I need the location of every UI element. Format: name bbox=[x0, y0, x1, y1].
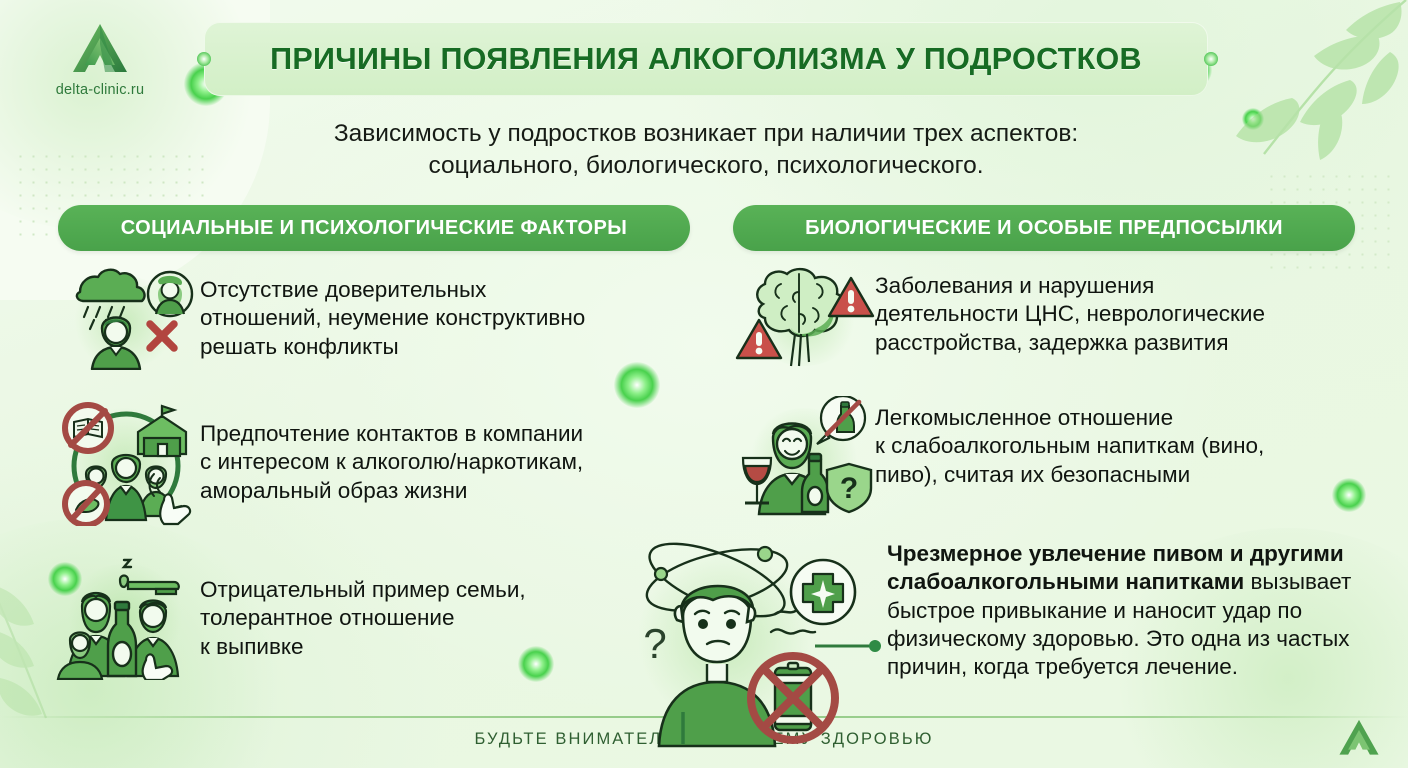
item-line-2: с интересом к алкоголю/наркотикам, bbox=[200, 448, 583, 476]
column-biological-factors: Заболевания и нарушения деятельности ЦНС… bbox=[733, 262, 1388, 748]
item-line-1: Заболевания и нарушения bbox=[875, 272, 1265, 300]
item-line-1: Отсутствие доверительных bbox=[200, 276, 585, 304]
column-social-factors: Отсутствие доверительных отношений, неум… bbox=[52, 262, 712, 680]
icon-container bbox=[52, 398, 200, 526]
item-line-2: к слабоалкогольным напиткам (вино, bbox=[875, 432, 1264, 460]
icon-container bbox=[52, 262, 200, 370]
list-item-text: Чрезмерное увлечение пивом и другими сла… bbox=[887, 536, 1388, 682]
delta-triangle-logo-icon bbox=[1338, 718, 1380, 758]
item-line-1: Легкомысленное отношение bbox=[875, 404, 1264, 432]
item-line-2: деятельности ЦНС, неврологические bbox=[875, 300, 1265, 328]
brand-site-label: delta-clinic.ru bbox=[20, 82, 180, 98]
list-item: Заболевания и нарушения деятельности ЦНС… bbox=[733, 262, 1388, 370]
family-with-beer-bottle-icon bbox=[52, 550, 200, 680]
list-item-text: Заболевания и нарушения деятельности ЦНС… bbox=[875, 262, 1265, 357]
delta-triangle-logo-icon bbox=[71, 22, 129, 76]
list-item: ? Легкомысленное отношение к слабоалкого… bbox=[733, 396, 1388, 516]
list-item: Отрицательный пример семьи, толерантное … bbox=[52, 550, 712, 680]
page-title: ПРИЧИНЫ ПОЯВЛЕНИЯ АЛКОГОЛИЗМА У ПОДРОСТК… bbox=[204, 22, 1208, 96]
subtitle-line-2: социального, биологического, психологиче… bbox=[254, 150, 1158, 182]
svg-text:?: ? bbox=[643, 620, 666, 667]
icon-container: ? bbox=[733, 396, 875, 516]
icon-container bbox=[52, 550, 200, 680]
list-item-text: Легкомысленное отношение к слабоалкоголь… bbox=[875, 396, 1264, 489]
item-line-3: расстройства, задержка развития bbox=[875, 329, 1265, 357]
item-line-1: Предпочтение контактов в компании bbox=[200, 420, 583, 448]
dizzy-teen-atom-medical-cross-no-beer-can-icon: ? bbox=[625, 536, 887, 748]
list-item-text: Отрицательный пример семьи, толерантное … bbox=[200, 550, 526, 661]
svg-text:?: ? bbox=[840, 472, 858, 505]
page-subtitle: Зависимость у подростков возникает при н… bbox=[254, 118, 1158, 183]
icon-container bbox=[733, 262, 875, 370]
peer-group-no-study-no-sport-icon bbox=[52, 398, 200, 526]
item-line-3: к выпивке bbox=[200, 633, 526, 661]
rain-cloud-sad-teen-rejected-contact-icon bbox=[52, 262, 200, 370]
item-line-1: Отрицательный пример семьи, bbox=[200, 576, 526, 604]
section-heading-social: СОЦИАЛЬНЫЕ И ПСИХОЛОГИЧЕСКИЕ ФАКТОРЫ bbox=[58, 205, 690, 251]
subtitle-line-1: Зависимость у подростков возникает при н… bbox=[254, 118, 1158, 150]
list-item: Предпочтение контактов в компании с инте… bbox=[52, 398, 712, 526]
item-line-3: аморальный образ жизни bbox=[200, 477, 583, 505]
icon-container: ? bbox=[625, 536, 887, 748]
item-line-3: решать конфликты bbox=[200, 333, 585, 361]
item-line-2: отношений, неумение конструктивно bbox=[200, 304, 585, 332]
section-heading-biological: БИОЛОГИЧЕСКИЕ И ОСОБЫЕ ПРЕДПОСЫЛКИ bbox=[733, 205, 1355, 251]
list-item-text: Отсутствие доверительных отношений, неум… bbox=[200, 262, 585, 361]
item-line-2: толерантное отношение bbox=[200, 604, 526, 632]
brain-warning-triangles-icon bbox=[733, 262, 875, 370]
smiling-teen-wine-beer-shield-question-icon: ? bbox=[733, 396, 875, 516]
list-item: Отсутствие доверительных отношений, неум… bbox=[52, 262, 712, 370]
brand-logo[interactable]: delta-clinic.ru bbox=[20, 22, 180, 98]
list-item-text: Предпочтение контактов в компании с инте… bbox=[200, 398, 583, 505]
item-line-3: пиво), считая их безопасными bbox=[875, 461, 1264, 489]
